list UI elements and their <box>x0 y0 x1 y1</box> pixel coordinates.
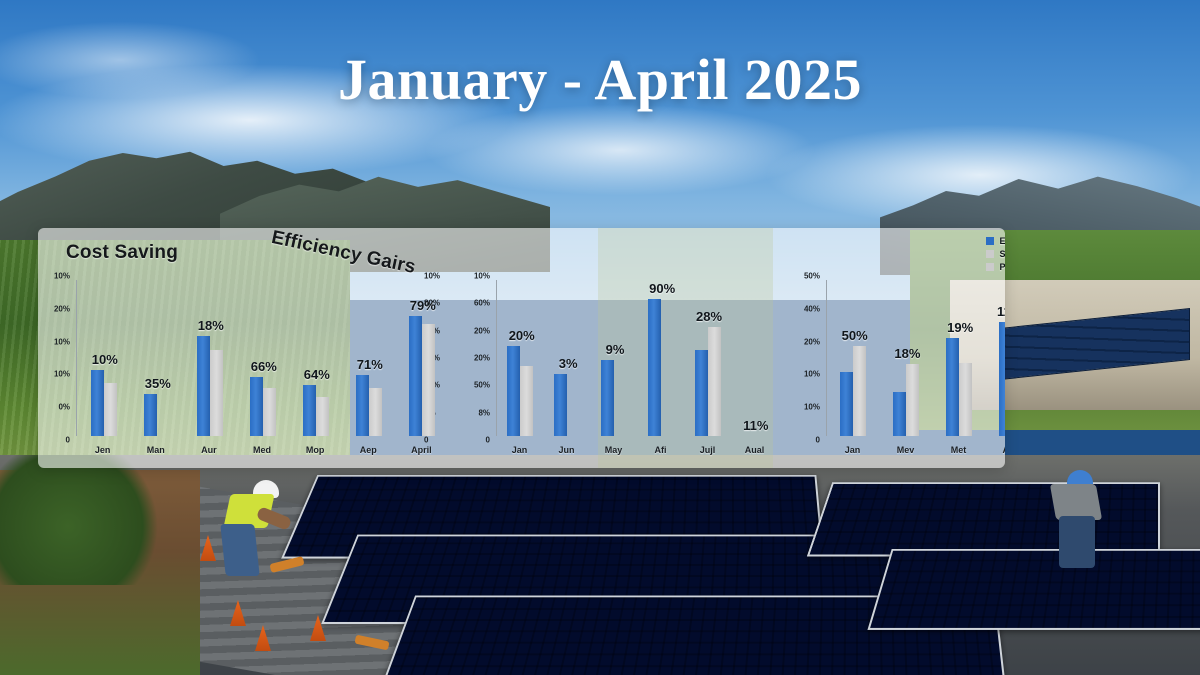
bar-group[interactable]: 9% <box>601 280 627 436</box>
x-axis-chart-a: JenManAurMedMopAepApril <box>76 442 448 458</box>
bar-value-label: 71% <box>357 357 383 372</box>
y-tick-label: 20% <box>474 354 490 363</box>
bar-value-label: 20% <box>509 328 535 343</box>
y-tick-label: 20% <box>54 304 70 313</box>
y-axis-left-chart-c: 50%40%20%10%10%0 <box>788 276 822 440</box>
chart-premium-overview: EfficiencySolarPremium 50%40%20%10%10%0 … <box>788 228 1005 468</box>
bar-primary[interactable] <box>197 336 210 436</box>
chart-legend: EfficiencySolarPremium <box>986 236 1005 272</box>
bar-primary[interactable] <box>144 394 157 436</box>
bar-secondary[interactable] <box>104 383 117 436</box>
bar-primary[interactable] <box>601 360 614 436</box>
plot-area-chart-b: 20%3%9%90%28%11% <box>496 280 778 436</box>
x-tick-label: Aprl <box>985 445 1005 455</box>
installer-worker-right <box>1035 470 1115 565</box>
bar-series-chart-c: 50%18%19%117% <box>827 280 1005 436</box>
y-tick-label: 10% <box>804 403 820 412</box>
legend-item[interactable]: Efficiency <box>986 236 1005 246</box>
charts-overlay-card: Cost Saving Efficiency Gairs 10%20%10%10… <box>38 228 1005 468</box>
bar-primary[interactable] <box>840 372 853 436</box>
x-tick-label: Jan <box>496 445 543 455</box>
bar-value-label: 66% <box>251 359 277 374</box>
worker-legs <box>1059 516 1095 568</box>
bar-group[interactable]: 66% <box>250 280 276 436</box>
legend-item-label: Premium <box>999 262 1005 272</box>
bar-primary[interactable] <box>695 350 708 436</box>
bar-primary[interactable] <box>507 346 520 436</box>
bar-group[interactable]: 71% <box>356 280 382 436</box>
x-tick-label: Aual <box>731 445 778 455</box>
bar-value-label: 28% <box>696 309 722 324</box>
x-tick-label: Met <box>932 445 985 455</box>
bar-value-label: 18% <box>198 318 224 333</box>
bar-group[interactable]: 117% <box>999 280 1005 436</box>
bar-value-label: 64% <box>304 367 330 382</box>
bar-group[interactable]: 50% <box>840 280 866 436</box>
legend-item[interactable]: Solar <box>986 249 1005 259</box>
bar-group[interactable]: 79% <box>409 280 435 436</box>
y-tick-label: 60% <box>474 299 490 308</box>
bar-group[interactable]: 20% <box>507 280 533 436</box>
chart-title-efficiency-gains: Efficiency Gairs <box>269 228 417 279</box>
legend-item-label: Solar <box>999 249 1005 259</box>
bar-group[interactable]: 18% <box>893 280 919 436</box>
y-axis-left-chart-a: 10%20%10%10%0%0 <box>38 276 72 440</box>
y-tick-label: 50% <box>474 381 490 390</box>
plot-area-chart-c: 50%18%19%117% <box>826 280 1005 436</box>
chart-title-cost-saving: Cost Saving <box>66 242 178 264</box>
bar-group[interactable]: 11% <box>742 280 768 436</box>
solar-panel-row-5 <box>867 549 1200 630</box>
chart-efficiency-gains: 10%60%20%20%50%8%0 20%3%9%90%28%11% JanJ… <box>458 228 788 468</box>
x-tick-label: Jun <box>543 445 590 455</box>
x-tick-label: May <box>590 445 637 455</box>
x-tick-label: Aur <box>182 445 235 455</box>
bar-group[interactable]: 10% <box>91 280 117 436</box>
y-axis-left-chart-b: 10%60%20%20%50%8%0 <box>458 276 492 440</box>
bar-primary[interactable] <box>250 377 263 436</box>
bar-secondary[interactable] <box>369 388 382 436</box>
bar-group[interactable]: 19% <box>946 280 972 436</box>
x-tick-label: Man <box>129 445 182 455</box>
installer-worker-left <box>205 480 285 570</box>
legend-swatch-blue-icon <box>986 237 994 245</box>
bar-value-label: 3% <box>559 356 578 371</box>
bar-value-label: 79% <box>410 298 436 313</box>
bar-series-chart-a: 10%35%18%66%64%71%79% <box>77 280 448 436</box>
y-tick-label: 0% <box>58 403 70 412</box>
x-tick-label: Aep <box>342 445 395 455</box>
bar-group[interactable]: 90% <box>648 280 674 436</box>
bar-primary[interactable] <box>946 338 959 436</box>
bar-value-label: 10% <box>92 352 118 367</box>
y-tick-label: 10% <box>804 370 820 379</box>
x-axis-chart-b: JanJunMayAfiJujlAual <box>496 442 778 458</box>
x-axis-chart-c: JanMevMetAprl <box>826 442 1005 458</box>
bar-primary[interactable] <box>648 299 661 436</box>
bar-group[interactable]: 18% <box>197 280 223 436</box>
bar-primary[interactable] <box>91 370 104 436</box>
bar-secondary[interactable] <box>853 346 866 436</box>
y-tick-label: 0 <box>486 436 490 445</box>
y-tick-label: 20% <box>474 326 490 335</box>
bar-secondary[interactable] <box>520 366 533 436</box>
bar-value-label: 19% <box>947 320 973 335</box>
bar-secondary[interactable] <box>708 327 721 436</box>
bar-value-label: 11% <box>743 418 768 433</box>
bar-primary[interactable] <box>409 316 422 436</box>
bar-secondary[interactable] <box>422 324 435 436</box>
bar-primary[interactable] <box>554 374 567 436</box>
plot-area-chart-a: 10%35%18%66%64%71%79% <box>76 280 448 436</box>
y-tick-label: 50% <box>804 272 820 281</box>
bar-group[interactable]: 64% <box>303 280 329 436</box>
bar-group[interactable]: 28% <box>695 280 721 436</box>
bar-value-label: 18% <box>894 346 920 361</box>
bar-secondary[interactable] <box>316 397 329 436</box>
worker-legs <box>220 524 259 576</box>
chart-cost-saving: Cost Saving Efficiency Gairs 10%20%10%10… <box>38 228 458 468</box>
bar-primary[interactable] <box>303 385 316 436</box>
y-tick-label: 0 <box>816 436 820 445</box>
tree-foliage-left <box>0 455 170 585</box>
y-tick-label: 10% <box>54 370 70 379</box>
y-tick-label: 8% <box>478 408 490 417</box>
bar-secondary[interactable] <box>959 363 972 436</box>
y-tick-label: 10% <box>474 272 490 281</box>
bar-group[interactable]: 35% <box>144 280 170 436</box>
x-tick-label: Mop <box>289 445 342 455</box>
bar-primary[interactable] <box>999 322 1005 436</box>
bar-group[interactable]: 3% <box>554 280 580 436</box>
bar-secondary[interactable] <box>263 388 276 436</box>
legend-swatch-gray-icon <box>986 250 994 258</box>
safety-vest <box>1050 484 1102 520</box>
bar-value-label: 9% <box>606 342 625 357</box>
y-tick-label: 10% <box>54 337 70 346</box>
x-tick-label: April <box>395 445 448 455</box>
bar-secondary[interactable] <box>210 350 223 436</box>
legend-item-label: Efficiency <box>999 236 1005 246</box>
bar-primary[interactable] <box>356 375 369 436</box>
bar-primary[interactable] <box>893 392 906 436</box>
x-tick-label: Afi <box>637 445 684 455</box>
bar-series-chart-b: 20%3%9%90%28%11% <box>497 280 778 436</box>
bar-value-label: 117% <box>997 304 1005 319</box>
y-tick-label: 20% <box>804 337 820 346</box>
legend-item[interactable]: Premium <box>986 262 1005 272</box>
bar-value-label: 90% <box>649 281 675 296</box>
x-tick-label: Jen <box>76 445 129 455</box>
bar-value-label: 50% <box>842 328 868 343</box>
y-tick-label: 10% <box>54 272 70 281</box>
bar-secondary[interactable] <box>906 364 919 436</box>
x-tick-label: Jan <box>826 445 879 455</box>
bar-value-label: 35% <box>145 376 171 391</box>
x-tick-label: Jujl <box>684 445 731 455</box>
slide-title: January - April 2025 <box>0 46 1200 113</box>
y-tick-label: 0 <box>66 436 70 445</box>
legend-swatch-gray-icon <box>986 263 994 271</box>
x-tick-label: Med <box>235 445 288 455</box>
y-tick-label: 40% <box>804 304 820 313</box>
x-tick-label: Mev <box>879 445 932 455</box>
